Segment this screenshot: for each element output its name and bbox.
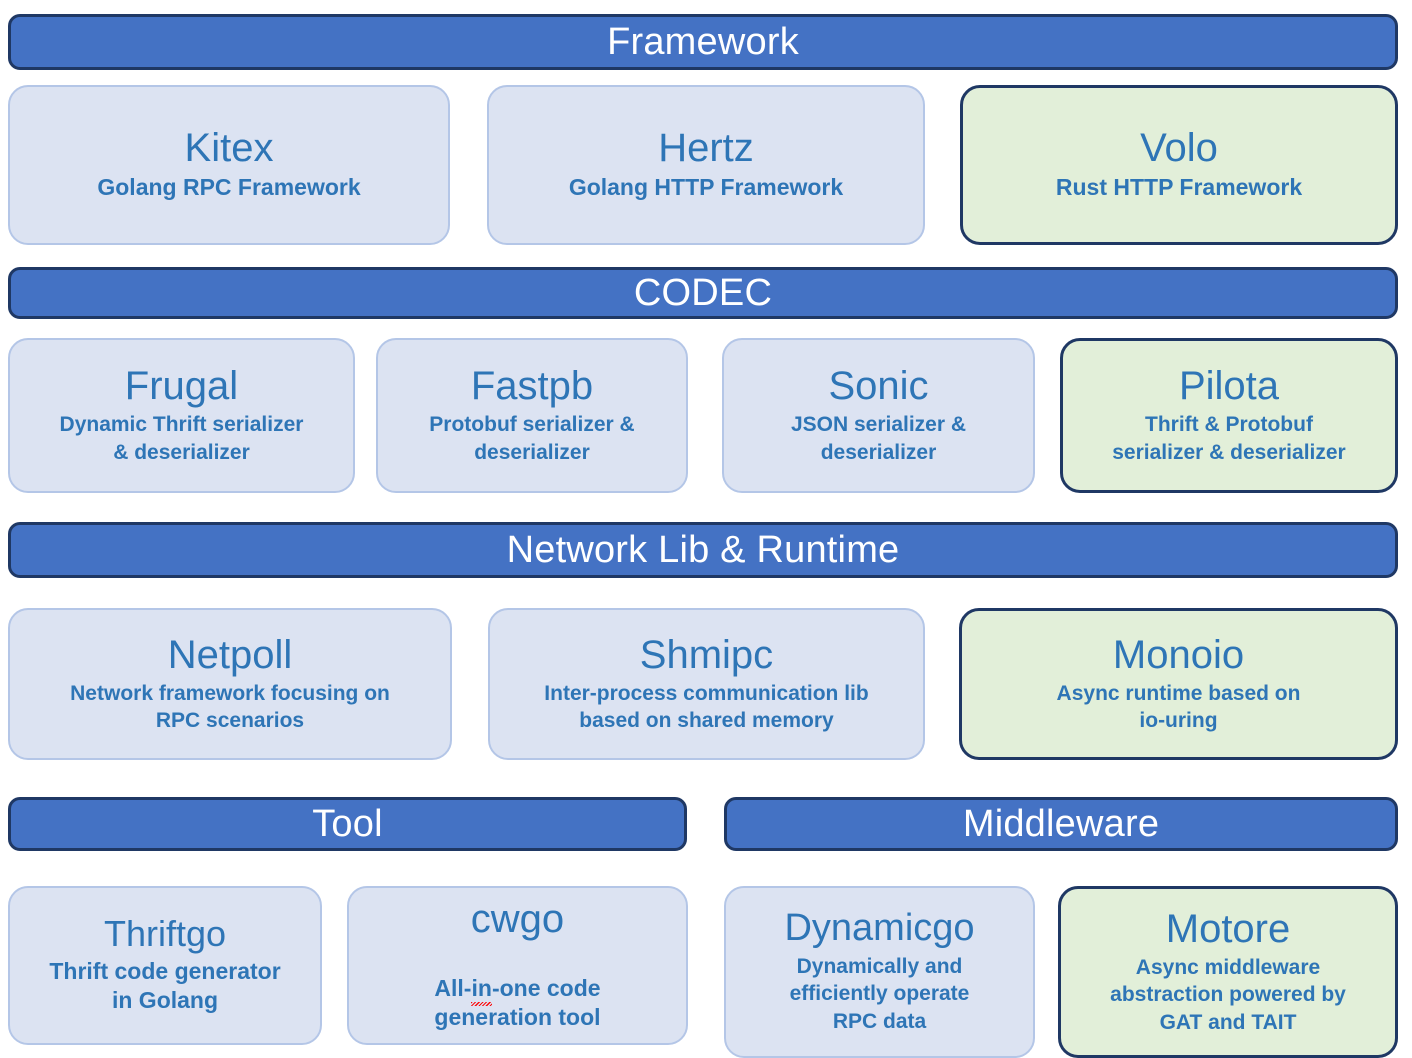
section-header-middleware: Middleware xyxy=(724,797,1398,851)
spellcheck-misspelled-word: in xyxy=(471,974,491,1004)
card-pilota[interactable]: Pilota Thrift & Protobuf serializer & de… xyxy=(1060,338,1398,493)
section-header-network-lib-runtime: Network Lib & Runtime xyxy=(8,522,1398,578)
architecture-diagram: Framework Kitex Golang RPC Framework Her… xyxy=(0,0,1412,1058)
card-title: cwgo xyxy=(471,898,564,940)
card-title: Dynamicgo xyxy=(784,909,974,949)
card-title: Thriftgo xyxy=(104,915,226,953)
card-motore[interactable]: Motore Async middleware abstraction powe… xyxy=(1058,886,1398,1058)
card-title: Frugal xyxy=(125,365,238,407)
card-title: Hertz xyxy=(658,127,754,169)
card-volo[interactable]: Volo Rust HTTP Framework xyxy=(960,85,1398,245)
card-description: Dynamically and efficiently operate RPC … xyxy=(790,953,970,1035)
card-description: JSON serializer & deserializer xyxy=(791,411,966,466)
card-description: Dynamic Thrift serializer & deserializer xyxy=(60,411,304,466)
card-description: All-in-one code generation tool xyxy=(434,944,600,1034)
card-dynamicgo[interactable]: Dynamicgo Dynamically and efficiently op… xyxy=(724,886,1035,1058)
card-title: Pilota xyxy=(1179,365,1279,407)
card-kitex[interactable]: Kitex Golang RPC Framework xyxy=(8,85,450,245)
card-title: Monoio xyxy=(1113,634,1244,676)
card-description: Rust HTTP Framework xyxy=(1056,173,1302,203)
card-hertz[interactable]: Hertz Golang HTTP Framework xyxy=(487,85,925,245)
section-header-codec: CODEC xyxy=(8,267,1398,319)
card-frugal[interactable]: Frugal Dynamic Thrift serializer & deser… xyxy=(8,338,355,493)
card-description: Network framework focusing on RPC scenar… xyxy=(70,680,390,735)
card-description: Golang RPC Framework xyxy=(97,173,360,203)
card-title: Fastpb xyxy=(471,365,593,407)
card-monoio[interactable]: Monoio Async runtime based on io-uring xyxy=(959,608,1398,760)
section-header-framework: Framework xyxy=(8,14,1398,70)
card-title: Volo xyxy=(1140,127,1218,169)
card-description: Async middleware abstraction powered by … xyxy=(1110,954,1346,1036)
desc-text-before: All- xyxy=(434,975,471,1001)
card-description: Protobuf serializer & deserializer xyxy=(429,411,634,466)
section-header-tool: Tool xyxy=(8,797,687,851)
card-title: Motore xyxy=(1166,908,1291,950)
card-description: Thrift code generator in Golang xyxy=(49,957,280,1017)
card-title: Sonic xyxy=(828,365,928,407)
card-title: Shmipc xyxy=(640,634,773,676)
card-sonic[interactable]: Sonic JSON serializer & deserializer xyxy=(722,338,1035,493)
card-shmipc[interactable]: Shmipc Inter-process communication lib b… xyxy=(488,608,925,760)
card-fastpb[interactable]: Fastpb Protobuf serializer & deserialize… xyxy=(376,338,688,493)
card-title: Kitex xyxy=(185,127,274,169)
card-title: Netpoll xyxy=(168,634,293,676)
card-description: Async runtime based on io-uring xyxy=(1057,680,1301,735)
card-description: Golang HTTP Framework xyxy=(569,173,843,203)
card-description: Thrift & Protobuf serializer & deseriali… xyxy=(1112,411,1345,466)
card-netpoll[interactable]: Netpoll Network framework focusing on RP… xyxy=(8,608,452,760)
card-description: Inter-process communication lib based on… xyxy=(544,680,868,735)
card-cwgo[interactable]: cwgo All-in-one code generation tool xyxy=(347,886,688,1045)
card-thriftgo[interactable]: Thriftgo Thrift code generator in Golang xyxy=(8,886,322,1045)
